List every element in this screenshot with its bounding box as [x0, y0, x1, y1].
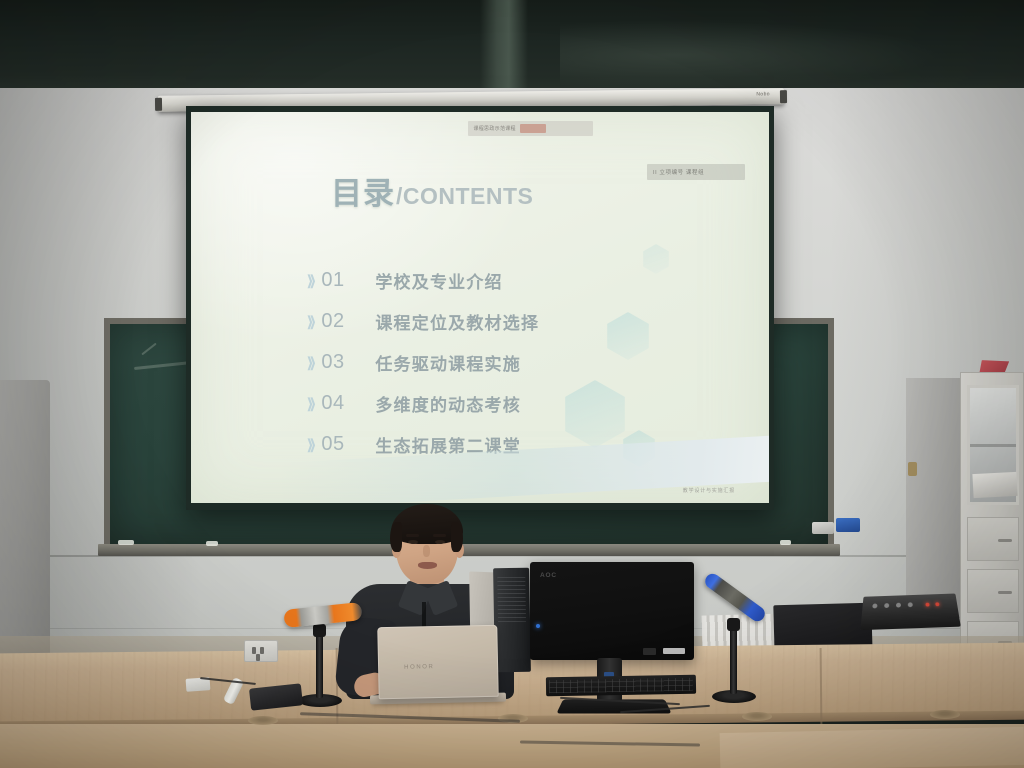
audio-mixer[interactable] [860, 593, 960, 630]
storage-cabinet[interactable] [960, 372, 1024, 668]
gray-small-box[interactable] [812, 522, 834, 534]
roller-cap-left [155, 98, 162, 111]
mixer-led-indicator [935, 602, 939, 606]
slide-badge: II 立项编号 课程组 [647, 164, 745, 180]
cabinet-papers [972, 472, 1017, 498]
monitor-spec-label [663, 648, 685, 654]
desk-cable-grommet [930, 710, 960, 719]
chalk-piece [118, 540, 134, 545]
eye-right [435, 540, 445, 544]
monitor-power-led [536, 624, 540, 628]
toc-number: 05 [321, 433, 355, 456]
hair-side-right [451, 522, 463, 552]
list-item: ⟫ 02 课程定位及教材选择 [307, 301, 637, 342]
chevron-right-icon: ⟫ [307, 272, 313, 290]
chevron-right-icon: ⟫ [307, 395, 313, 413]
slide-header-text: 课程思政示范课程 [473, 125, 515, 132]
chevron-right-icon: ⟫ [307, 313, 313, 331]
keyboard[interactable] [546, 675, 696, 697]
computer-monitor[interactable]: AOC [530, 562, 694, 660]
monitor-brand-logo: AOC [540, 572, 557, 579]
right-gray-panel [906, 378, 964, 618]
toc-number: 01 [321, 269, 355, 292]
pc-tower[interactable] [493, 568, 531, 673]
monitor-port [643, 648, 656, 655]
toc-number: 03 [321, 351, 355, 374]
toc-label: 多维度的动态考核 [375, 391, 521, 416]
slide-badge-text: II 立项编号 课程组 [653, 168, 704, 176]
projector-screen: 课程思政示范课程 II 立项编号 课程组 目录 /CONTENTS ⟫ 01 学… [186, 106, 774, 510]
microphone-stand-pole [316, 630, 323, 698]
mouth [418, 562, 437, 569]
keyboard-keys [549, 678, 693, 694]
panel-knob[interactable] [908, 462, 917, 476]
cabinet-glass-door[interactable] [967, 385, 1019, 505]
slide-title-en: /CONTENTS [396, 183, 533, 210]
ceiling-beam [480, 0, 528, 90]
hair-side-left [390, 522, 402, 552]
ceiling-light-glow [560, 20, 940, 90]
mixer-led-indicator [925, 603, 929, 607]
list-item: ⟫ 04 多维度的动态考核 [307, 383, 637, 424]
desk-cable-grommet [248, 716, 278, 725]
slide-title-cn: 目录 [331, 168, 395, 213]
blue-small-box[interactable] [836, 518, 860, 532]
microphone-clip [727, 618, 740, 631]
eyebrow-right [433, 534, 446, 537]
slide-header-strip: 课程思政示范课程 [468, 121, 593, 136]
chevron-right-icon: ⟫ [307, 354, 313, 372]
roller-brand-label: Nobo [756, 91, 770, 97]
list-item: ⟫ 01 学校及专业介绍 [307, 260, 637, 301]
drawer-handle[interactable] [998, 539, 1012, 542]
drawer-handle[interactable] [998, 591, 1012, 594]
microphone-stand-pole [730, 624, 737, 694]
roller-cap-right [780, 90, 787, 103]
microphone-clip [313, 624, 326, 637]
laptop[interactable]: HONOR [377, 625, 498, 699]
laptop-brand-logo: HONOR [404, 664, 434, 671]
toc-label: 课程定位及教材选择 [375, 309, 539, 334]
chalk-piece [206, 541, 218, 546]
power-socket-plate[interactable] [244, 640, 278, 662]
classroom-scene: Nobo 课程思政示范课程 II 立项编号 课程组 目录 /CONTENTS [0, 0, 1024, 768]
slide-header-chip [520, 124, 546, 133]
chalk-piece [780, 540, 791, 545]
table-of-contents: ⟫ 01 学校及专业介绍 ⟫ 02 课程定位及教材选择 ⟫ 03 任务驱动课程实… [307, 260, 637, 465]
tower-vent [497, 576, 526, 622]
desk-cable-grommet [742, 712, 772, 721]
slide-title: 目录 /CONTENTS [331, 168, 533, 213]
eyebrow-left [406, 534, 419, 537]
cabinet-shelf [970, 444, 1016, 447]
slide-footnote: 教学设计与实施汇报 [683, 487, 735, 494]
list-item: ⟫ 03 任务驱动课程实施 [307, 342, 637, 383]
toc-label: 任务驱动课程实施 [375, 350, 521, 375]
nose [423, 545, 430, 557]
cabinet-drawer[interactable] [967, 517, 1019, 561]
presentation-slide: 课程思政示范课程 II 立项编号 课程组 目录 /CONTENTS ⟫ 01 学… [191, 112, 769, 503]
toc-label: 学校及专业介绍 [375, 268, 502, 293]
toc-number: 02 [321, 310, 355, 333]
left-gray-panel [0, 380, 50, 660]
chevron-right-icon: ⟫ [307, 436, 313, 454]
secondary-desk [720, 727, 1024, 768]
cabinet-drawer[interactable] [967, 569, 1019, 613]
hexagon-decor-icon [643, 244, 669, 274]
eye-left [408, 540, 418, 544]
toc-number: 04 [321, 392, 355, 415]
